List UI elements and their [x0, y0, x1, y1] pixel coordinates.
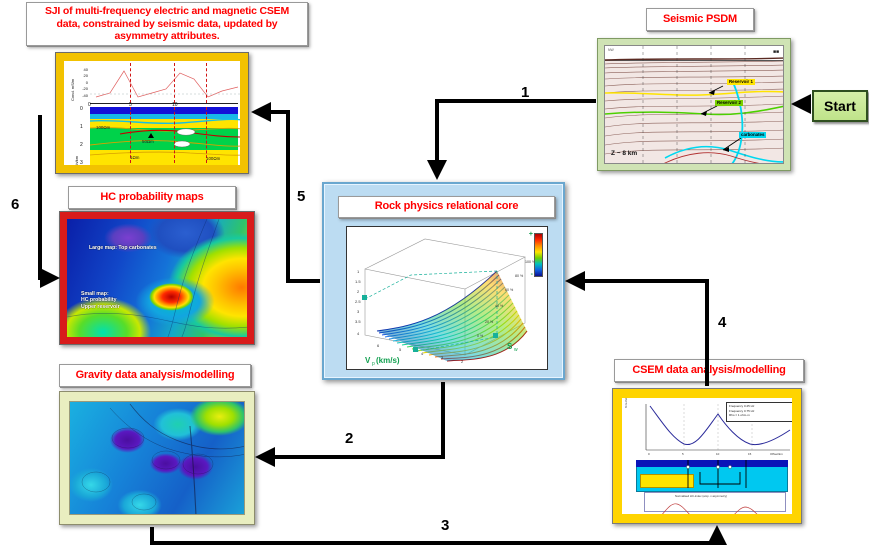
csem-analysis-figure: % E-field – ratio Frequency 0.25 HzFrequ…: [622, 398, 792, 514]
sji-annotation: 50Ωm: [142, 139, 154, 144]
svg-text:w: w: [514, 347, 518, 353]
svg-text:V: V: [365, 356, 371, 365]
flow-number-1: 1: [521, 84, 529, 101]
svg-text:20 %: 20 %: [485, 320, 494, 324]
panel-rock-physics-core[interactable]: Rock physics relational core: [322, 182, 565, 380]
svg-text:(km/s): (km/s): [376, 356, 400, 365]
caption-seismic-psdm: Seismic PSDM: [646, 8, 754, 31]
colorbar-min-label: -: [531, 271, 533, 278]
panel-seismic-psdm[interactable]: NW ■■: [597, 38, 791, 171]
sji-depth-axis-label: Depth/km: [74, 156, 79, 165]
psdm-depth-note: Z ~ 8 km: [611, 150, 637, 157]
start-button[interactable]: Start: [812, 90, 868, 122]
panel-hc-probability[interactable]: Large map: Top carbonates Small map: HC …: [59, 211, 255, 345]
svg-text:2: 2: [357, 289, 360, 294]
psdm-label-reservoir-1: Reservoir 1: [727, 79, 755, 85]
sji-annotation: 1Ωm: [130, 155, 139, 160]
arrow-1: [437, 101, 596, 176]
svg-text:3: 3: [357, 309, 360, 314]
flow-number-5: 5: [297, 188, 305, 205]
csem-subplot: Normalised HC-index (amp. x asymmetry): [644, 492, 786, 512]
colorbar-max-label: +: [529, 231, 533, 238]
rock-physics-3d-surface: 11.5 22.5 33.5 4 65 43 2 100 %80 % 60 %4…: [347, 227, 547, 369]
caption-sji: SJI of multi-frequency electric and magn…: [26, 2, 308, 46]
hc-large-map-label: Large map: Top carbonates: [89, 245, 157, 251]
svg-text:p: p: [372, 361, 375, 367]
arrow-3: [152, 527, 717, 543]
flow-number-3: 3: [441, 517, 449, 534]
start-button-label: Start: [824, 98, 856, 114]
sji-depth-tick: 1: [80, 124, 83, 130]
psdm-label-reservoir-2: Reservoir 2: [715, 100, 743, 106]
svg-text:40 %: 40 %: [495, 304, 504, 308]
csem-legend: Frequency 0.25 HzFrequency 0.75 HzRho = …: [726, 402, 792, 422]
svg-text:60 %: 60 %: [505, 288, 514, 292]
flow-number-6: 6: [11, 196, 19, 213]
svg-text:6: 6: [377, 343, 380, 348]
colorbar: [534, 233, 543, 277]
arrow-6: [40, 115, 56, 278]
sji-resistivity-section: 100Ωm 50Ωm 1Ωm 100Ωm: [90, 107, 238, 163]
arrow-5: [255, 112, 320, 281]
svg-text:5: 5: [399, 347, 402, 352]
svg-text:4: 4: [421, 351, 424, 356]
svg-text:1.5: 1.5: [355, 279, 361, 284]
caption-core: Rock physics relational core: [338, 196, 555, 218]
panel-gravity[interactable]: [59, 391, 255, 525]
panel-csem[interactable]: % E-field – ratio Frequency 0.25 HzFrequ…: [612, 388, 802, 524]
sji-annotation: 100Ωm: [96, 125, 110, 130]
sji-annotation: 100Ωm: [206, 156, 220, 161]
panel-sji[interactable]: 40200-20-40 Cond. mS/m 0 5 10: [55, 52, 249, 174]
hc-small-map-label: Small map: HC probability Upper reservoi…: [81, 291, 120, 310]
caption-hc-probability: HC probability maps: [68, 186, 236, 209]
svg-text:80 %: 80 %: [515, 274, 524, 278]
svg-text:0 %: 0 %: [477, 334, 484, 338]
svg-text:4: 4: [357, 331, 360, 336]
caption-gravity: Gravity data analysis/modelling: [59, 364, 251, 387]
sji-y-axis-label: Cond. mS/m: [70, 79, 75, 101]
sji-depth-tick: 2: [80, 142, 83, 148]
sji-depth-tick: 3: [80, 160, 83, 165]
svg-text:3.5: 3.5: [355, 319, 361, 324]
flow-number-4: 4: [718, 314, 726, 331]
psdm-label-carbonates: carbonates: [739, 132, 766, 138]
svg-text:1: 1: [357, 269, 360, 274]
caption-csem: CSEM data analysis/modelling: [614, 359, 804, 382]
svg-text:S: S: [507, 342, 513, 351]
seismic-section-image: NW ■■: [605, 46, 783, 163]
svg-text:2.5: 2.5: [355, 299, 361, 304]
sji-depth-tick: 0: [80, 106, 83, 112]
flow-number-2: 2: [345, 430, 353, 447]
csem-y-axis-label: % E-field – ratio: [624, 398, 628, 408]
